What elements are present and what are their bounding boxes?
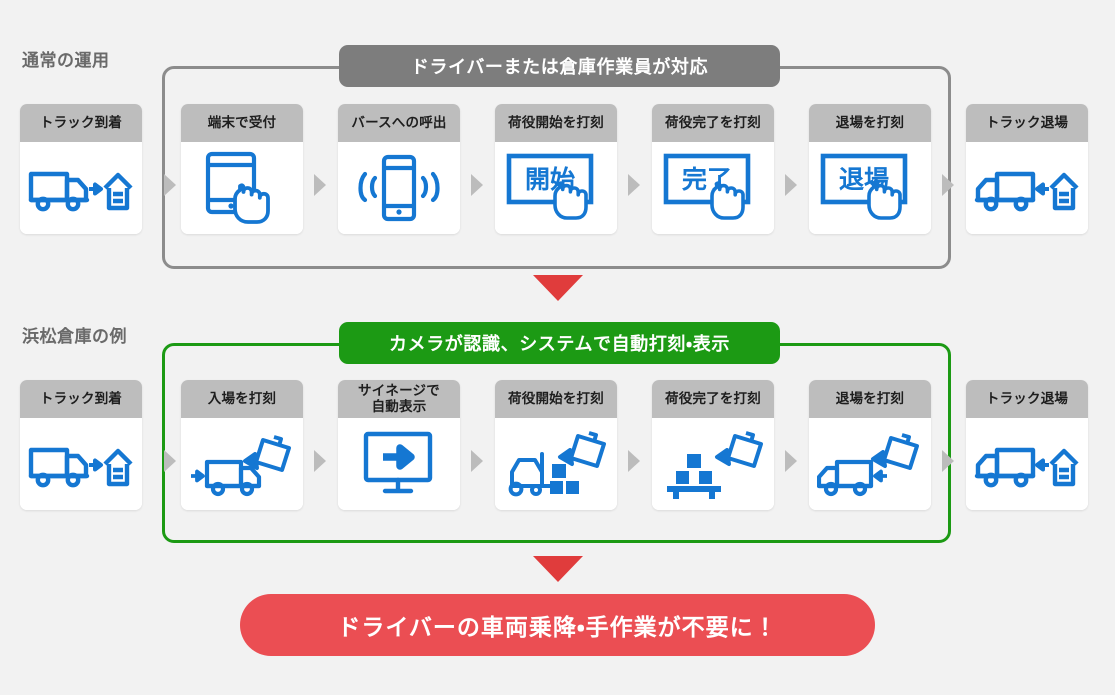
card-title: 荷役開始を打刻 (495, 380, 617, 418)
card-icon-area: 退場 (809, 142, 931, 234)
signage-monitor-icon (361, 429, 437, 499)
truck-arrive-icon (27, 436, 135, 492)
truck-depart-icon (973, 436, 1081, 492)
chevron-icon (628, 174, 640, 196)
banner-camera-automation: カメラが認識、システムで自動打刻・表示 (339, 322, 780, 364)
card-icon-area (495, 418, 617, 510)
card-exit-stamp-camera[interactable]: 退場を打刻 (809, 380, 931, 510)
card-icon-area: 開始 (495, 142, 617, 234)
card-icon-area (20, 142, 142, 234)
chevron-icon (942, 450, 954, 472)
truck-arrive-icon (27, 160, 135, 216)
card-terminal-checkin[interactable]: 端末で受付 (181, 104, 303, 234)
card-entry-stamp-camera[interactable]: 入場を打刻 (181, 380, 303, 510)
card-truck-depart-camera[interactable]: トラック退場 (966, 380, 1088, 510)
truck-depart-icon (973, 160, 1081, 216)
chevron-icon (164, 174, 176, 196)
card-icon-area (181, 142, 303, 234)
card-title: トラック到着 (20, 104, 142, 142)
card-stamp-complete[interactable]: 荷役完了を打刻 完了 (652, 104, 774, 234)
chevron-icon (785, 450, 797, 472)
result-arrow-down-icon (533, 556, 583, 582)
truck-exit-camera-icon (817, 424, 923, 504)
chevron-icon (628, 450, 640, 472)
card-pallet-complete-camera[interactable]: 荷役完了を打刻 (652, 380, 774, 510)
card-truck-arrive-manual[interactable]: トラック到着 (20, 104, 142, 234)
card-truck-depart-manual[interactable]: トラック退場 (966, 104, 1088, 234)
flow-arrow-down-icon (533, 275, 583, 301)
card-title: トラック退場 (966, 380, 1088, 418)
card-title: サイネージで 自動表示 (338, 380, 460, 418)
chevron-icon (942, 174, 954, 196)
card-forklift-start-camera[interactable]: 荷役開始を打刻 (495, 380, 617, 510)
truck-enter-camera-icon (189, 424, 295, 504)
card-icon-area (966, 418, 1088, 510)
card-stamp-start[interactable]: 荷役開始を打刻 開始 (495, 104, 617, 234)
banner-manual-operation: ドライバーまたは倉庫作業員が対応 (339, 45, 780, 87)
stamp-button-icon[interactable]: 退場 (817, 150, 923, 226)
chevron-icon (471, 450, 483, 472)
pallet-camera-icon (659, 424, 767, 504)
card-title: 入場を打刻 (181, 380, 303, 418)
card-icon-area (181, 418, 303, 510)
card-icon-area: 完了 (652, 142, 774, 234)
phone-call-icon (351, 152, 447, 224)
section-label-hamamatsu: 浜松倉庫の例 (22, 322, 127, 347)
section-label-normal: 通常の運用 (22, 46, 110, 71)
tablet-tap-icon (200, 150, 284, 226)
chevron-icon (785, 174, 797, 196)
card-title: トラック退場 (966, 104, 1088, 142)
card-title: 退場を打刻 (809, 380, 931, 418)
card-icon-area (338, 142, 460, 234)
card-title: 端末で受付 (181, 104, 303, 142)
card-title: トラック到着 (20, 380, 142, 418)
stamp-button-icon[interactable]: 完了 (660, 150, 766, 226)
card-truck-arrive-camera[interactable]: トラック到着 (20, 380, 142, 510)
diagram-canvas: 通常の運用 浜松倉庫の例 ドライバーまたは倉庫作業員が対応 カメラが認識、システ… (0, 0, 1115, 695)
card-title: バースへの呼出 (338, 104, 460, 142)
card-stamp-exit[interactable]: 退場を打刻 退場 (809, 104, 931, 234)
card-berth-call[interactable]: バースへの呼出 (338, 104, 460, 234)
card-title: 荷役完了を打刻 (652, 104, 774, 142)
chevron-icon (314, 174, 326, 196)
card-signage-display[interactable]: サイネージで 自動表示 (338, 380, 460, 510)
card-icon-area (809, 418, 931, 510)
chevron-icon (164, 450, 176, 472)
card-title: 荷役開始を打刻 (495, 104, 617, 142)
card-icon-area (652, 418, 774, 510)
stamp-button-icon[interactable]: 開始 (503, 150, 609, 226)
card-title: 荷役完了を打刻 (652, 380, 774, 418)
card-icon-area (338, 418, 460, 510)
forklift-camera-icon (502, 424, 610, 504)
chevron-icon (314, 450, 326, 472)
card-icon-area (20, 418, 142, 510)
card-icon-area (966, 142, 1088, 234)
chevron-icon (471, 174, 483, 196)
result-banner: ドライバーの車両乗降・手作業が不要に！ (240, 594, 875, 656)
card-title: 退場を打刻 (809, 104, 931, 142)
